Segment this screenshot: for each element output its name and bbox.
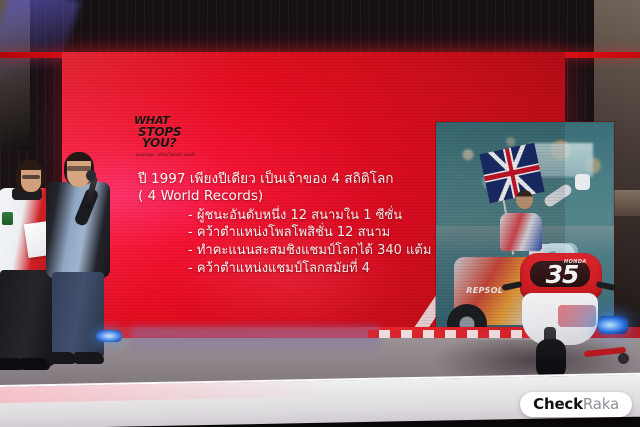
presenter-2-legs bbox=[52, 272, 104, 358]
watermark-text: CheckRaka bbox=[533, 396, 619, 412]
presenter-2-torso bbox=[46, 182, 110, 278]
presenter-1-badge bbox=[2, 212, 13, 225]
watermark-check: Check bbox=[533, 395, 583, 413]
moto-sponsor-decal bbox=[558, 305, 596, 327]
checkraka-watermark: CheckRaka bbox=[520, 392, 632, 417]
moto-brand-text: HONDA bbox=[564, 259, 587, 265]
led-presentation-screen: WHAT STOPS YOU? คุณจะหยุด...หรือจะไปต่อก… bbox=[62, 52, 565, 327]
screen-scanlines bbox=[62, 52, 565, 327]
moto-front-tyre bbox=[536, 339, 566, 379]
moto-stand-caster bbox=[618, 353, 629, 364]
presenter-2-shoe-right bbox=[74, 352, 104, 364]
presenter-2-shoe-left bbox=[46, 352, 76, 364]
photo-rider-glove bbox=[575, 174, 590, 190]
presenter-1-glasses-icon bbox=[22, 175, 40, 179]
watermark-raka: Raka bbox=[583, 395, 619, 413]
blue-stage-light bbox=[598, 316, 628, 334]
floor-light-pool bbox=[130, 327, 380, 357]
presenter-1-face bbox=[21, 170, 41, 192]
screenshot-root: WHAT STOPS YOU? คุณจะหยุด...หรือจะไปต่อก… bbox=[0, 0, 640, 427]
microphone-head-icon bbox=[86, 170, 96, 181]
riser-light-reflection bbox=[0, 381, 330, 403]
display-motorcycle: 35 HONDA bbox=[500, 243, 636, 378]
blue-stage-light-2 bbox=[96, 330, 122, 342]
